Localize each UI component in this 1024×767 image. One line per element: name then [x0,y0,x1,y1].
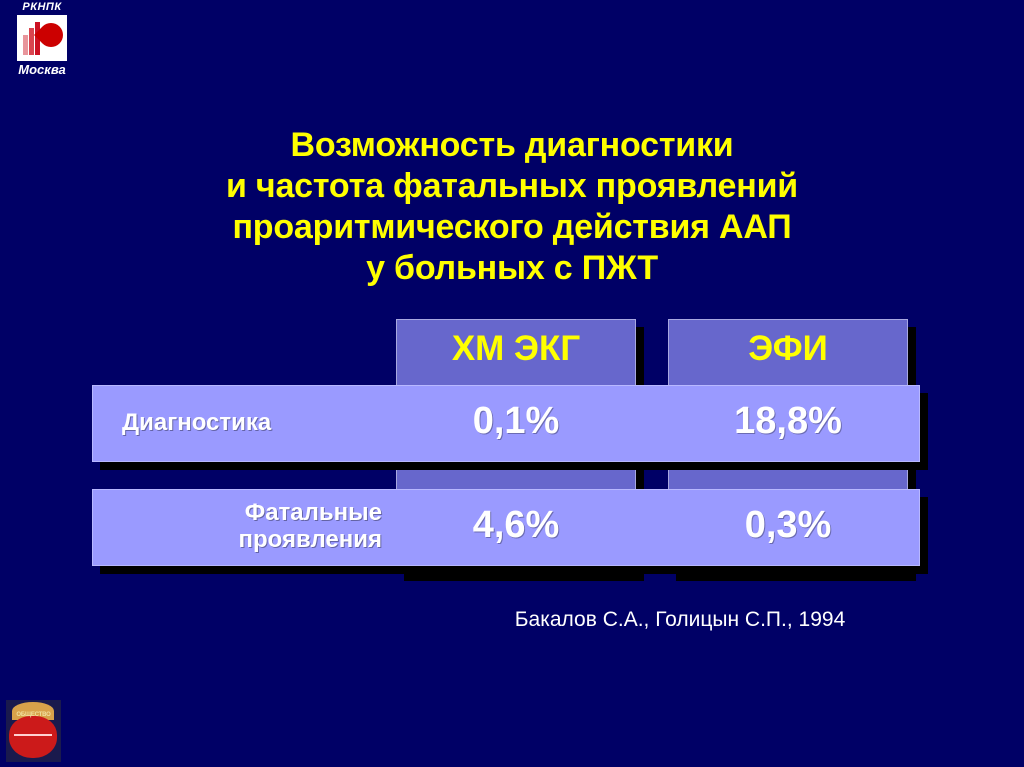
slide-canvas: РКНПК Москва Возможность диагностики и ч… [0,0,1024,767]
row-1-label: Диагностика [122,409,382,437]
column-header-efi: ЭФИ [668,329,908,369]
row-2-cell-1: 4,6% [396,504,636,547]
row-1-cell-1: 0,1% [396,400,636,443]
ecg-line-icon [14,734,52,736]
society-logo: ОБЩЕСТВО [6,700,61,762]
row-2-label-line-2: проявления [239,526,382,553]
row-2-label: Фатальные проявления [122,499,382,553]
row-2-label-line-1: Фатальные [245,499,382,526]
row-1-cell-2: 18,8% [668,400,908,443]
heart-icon [9,716,57,758]
citation-text: Бакалов С.А., Голицын С.П., 1994 [440,608,920,632]
column-header-hm-ekg: ХМ ЭКГ [396,329,636,369]
society-logo-text: ОБЩЕСТВО [6,712,61,719]
row-2-cell-2: 0,3% [668,504,908,547]
results-table: ХМ ЭКГ ЭФИ Диагностика 0,1% 18,8% Фаталь… [0,0,1024,767]
